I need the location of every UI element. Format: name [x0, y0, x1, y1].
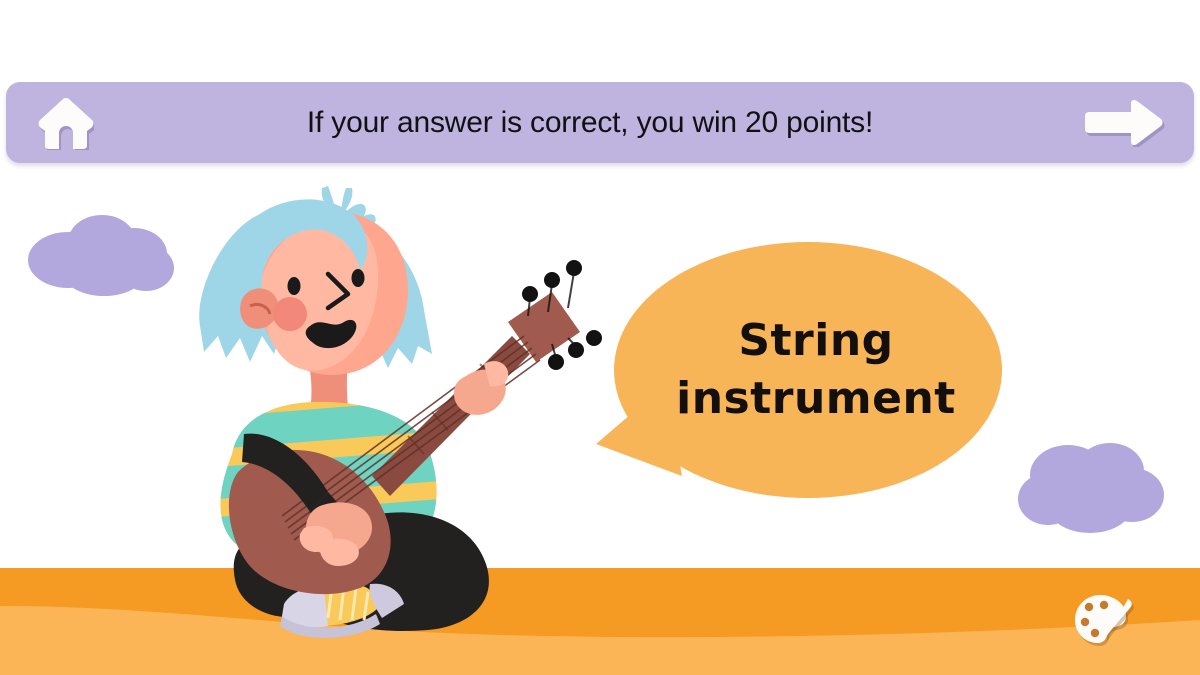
next-button[interactable]: [1076, 90, 1172, 156]
home-button[interactable]: [28, 90, 104, 156]
character-girl-playing-guitar: [132, 186, 652, 658]
slide-canvas: String instrument If your answer is corr…: [0, 0, 1200, 675]
palette-icon: [1073, 592, 1135, 648]
home-icon: [38, 96, 94, 150]
page-title: If your answer is correct, you win 20 po…: [104, 106, 1076, 140]
palette-button[interactable]: [1073, 592, 1135, 648]
cloud-right: [1012, 437, 1178, 541]
speech-bubble: [596, 238, 1008, 506]
head: [240, 200, 408, 374]
arrow-right-icon: [1083, 99, 1165, 147]
header-bar: If your answer is correct, you win 20 po…: [6, 82, 1194, 163]
